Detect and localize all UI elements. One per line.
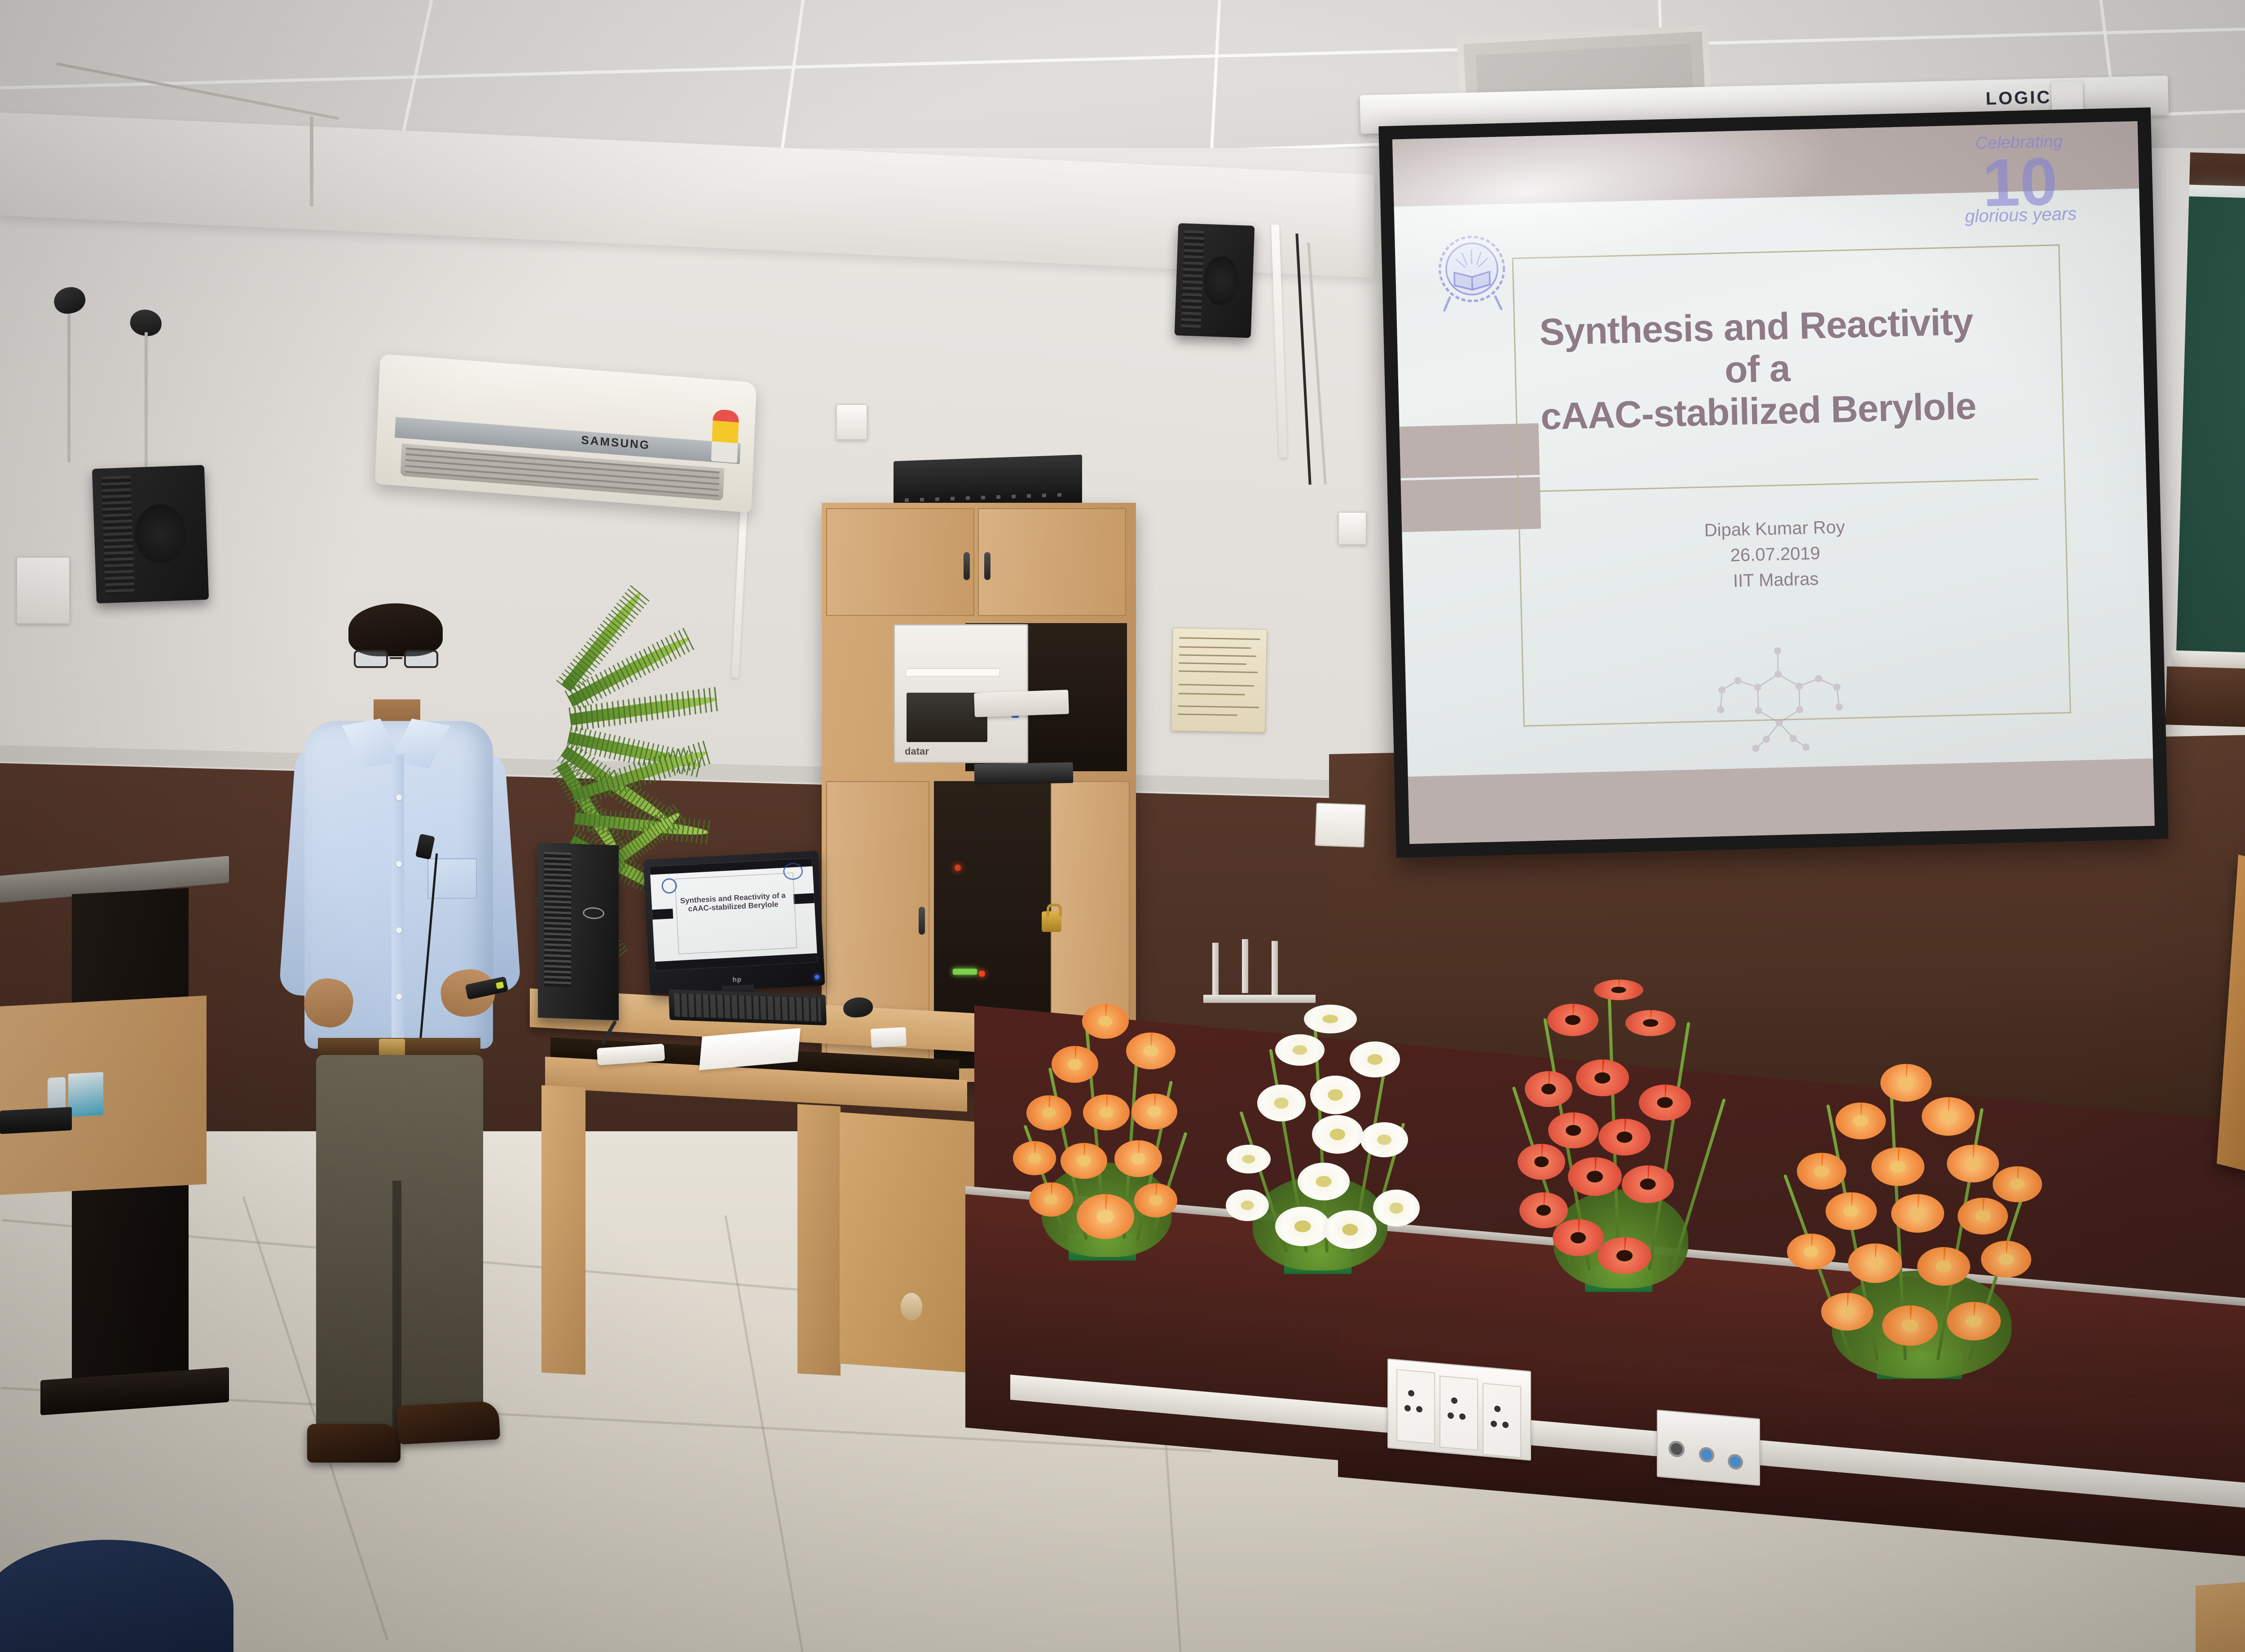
panel-sticker [906, 668, 1000, 677]
lamp-drop-cable [310, 117, 313, 206]
slide-band-bottom [1408, 759, 2155, 844]
wireless-mic-receiver [974, 762, 1074, 785]
shoe-right [397, 1401, 500, 1445]
pa-system-notice-sheet [1171, 628, 1267, 733]
eyeglasses-icon [354, 650, 438, 668]
keyboard[interactable] [669, 989, 827, 1025]
side-shelf [0, 996, 207, 1195]
projector-screen-assembly: LOGIC [1378, 76, 2170, 893]
chalkboard-assembly [2183, 157, 2245, 732]
molecule-structure-icon [1701, 631, 1856, 756]
wall-speaker [92, 465, 209, 604]
amplifier-unit [894, 455, 1082, 511]
monitor-screen: Synthesis and Reactivity of a cAAC-stabi… [650, 858, 818, 971]
slide-title: Synthesis and Reactivity of a cAAC-stabi… [1527, 300, 1988, 438]
flower-arrangement-orange-right [1769, 1059, 2056, 1405]
energy-rating-sticker-icon [711, 409, 740, 463]
shoe-left [307, 1424, 401, 1463]
slide-title-line-1: Synthesis and Reactivity of a [1539, 300, 1974, 391]
presenter [269, 584, 593, 1472]
padlock-icon[interactable] [1042, 911, 1061, 932]
computer-monitor: Synthesis and Reactivity of a cAAC-stabi… [643, 851, 825, 994]
white-device-box [871, 1027, 907, 1048]
flower-arrangement-orange-left [1001, 983, 1208, 1288]
wall-speaker [1175, 223, 1255, 338]
cabinet-door-upper-left[interactable] [826, 508, 974, 616]
monitor-iit-logo-icon [661, 878, 678, 894]
mic-stand-rack [1208, 943, 1311, 997]
wall-av-plate[interactable] [1315, 803, 1365, 848]
desk-leg-right [797, 1104, 841, 1375]
flower-arrangement-red-mid [1500, 988, 1724, 1320]
lamp-cable [145, 332, 148, 467]
screen-border: Celebrating 10 glorious years Synthesis … [1378, 107, 2168, 858]
monitor-bezel: Synthesis and Reactivity of a cAAC-stabi… [643, 851, 825, 994]
monitor-power-led [814, 975, 819, 980]
monitor-brand-label: hp [732, 975, 742, 984]
lecture-hall-scene: SAMSUNG LOGIC [0, 0, 2245, 1652]
cabinet-handle-icon[interactable] [984, 552, 990, 580]
lamp-cable [67, 314, 70, 462]
power-socket-plate[interactable] [1387, 1358, 1531, 1461]
panel-brand-label: datar [905, 746, 929, 757]
status-led [979, 971, 985, 977]
wall-socket-plate[interactable] [836, 404, 867, 440]
cabinet-door-upper-right[interactable] [978, 508, 1126, 616]
cabinet-handle-icon[interactable] [964, 552, 970, 580]
power-strip[interactable] [974, 690, 1069, 717]
cabinet-handle-icon[interactable] [919, 907, 925, 935]
xlr-audio-jack-plate[interactable] [1657, 1410, 1760, 1486]
wall-switch-plate[interactable] [16, 557, 70, 624]
board-shelf [2165, 666, 2245, 735]
level-meter-led [953, 969, 977, 975]
desk-side-panel [840, 1112, 974, 1373]
anniversary-bottom-text: glorious years [1946, 203, 2095, 227]
anniversary-logo: Celebrating 10 glorious years [1945, 131, 2095, 238]
equipment-box [68, 1072, 103, 1117]
trouser-seam [392, 1181, 401, 1437]
flower-arrangement-white-center [1208, 997, 1423, 1302]
screen-brand-label: LOGIC [1985, 88, 2052, 110]
wall-socket-plate[interactable] [1338, 512, 1367, 545]
projected-slide: Celebrating 10 glorious years Synthesis … [1392, 121, 2155, 844]
av-device [0, 1107, 72, 1134]
status-led [955, 865, 961, 871]
monitor-anniversary-logo-icon [783, 862, 803, 880]
desk-knob-icon[interactable] [901, 1293, 922, 1321]
